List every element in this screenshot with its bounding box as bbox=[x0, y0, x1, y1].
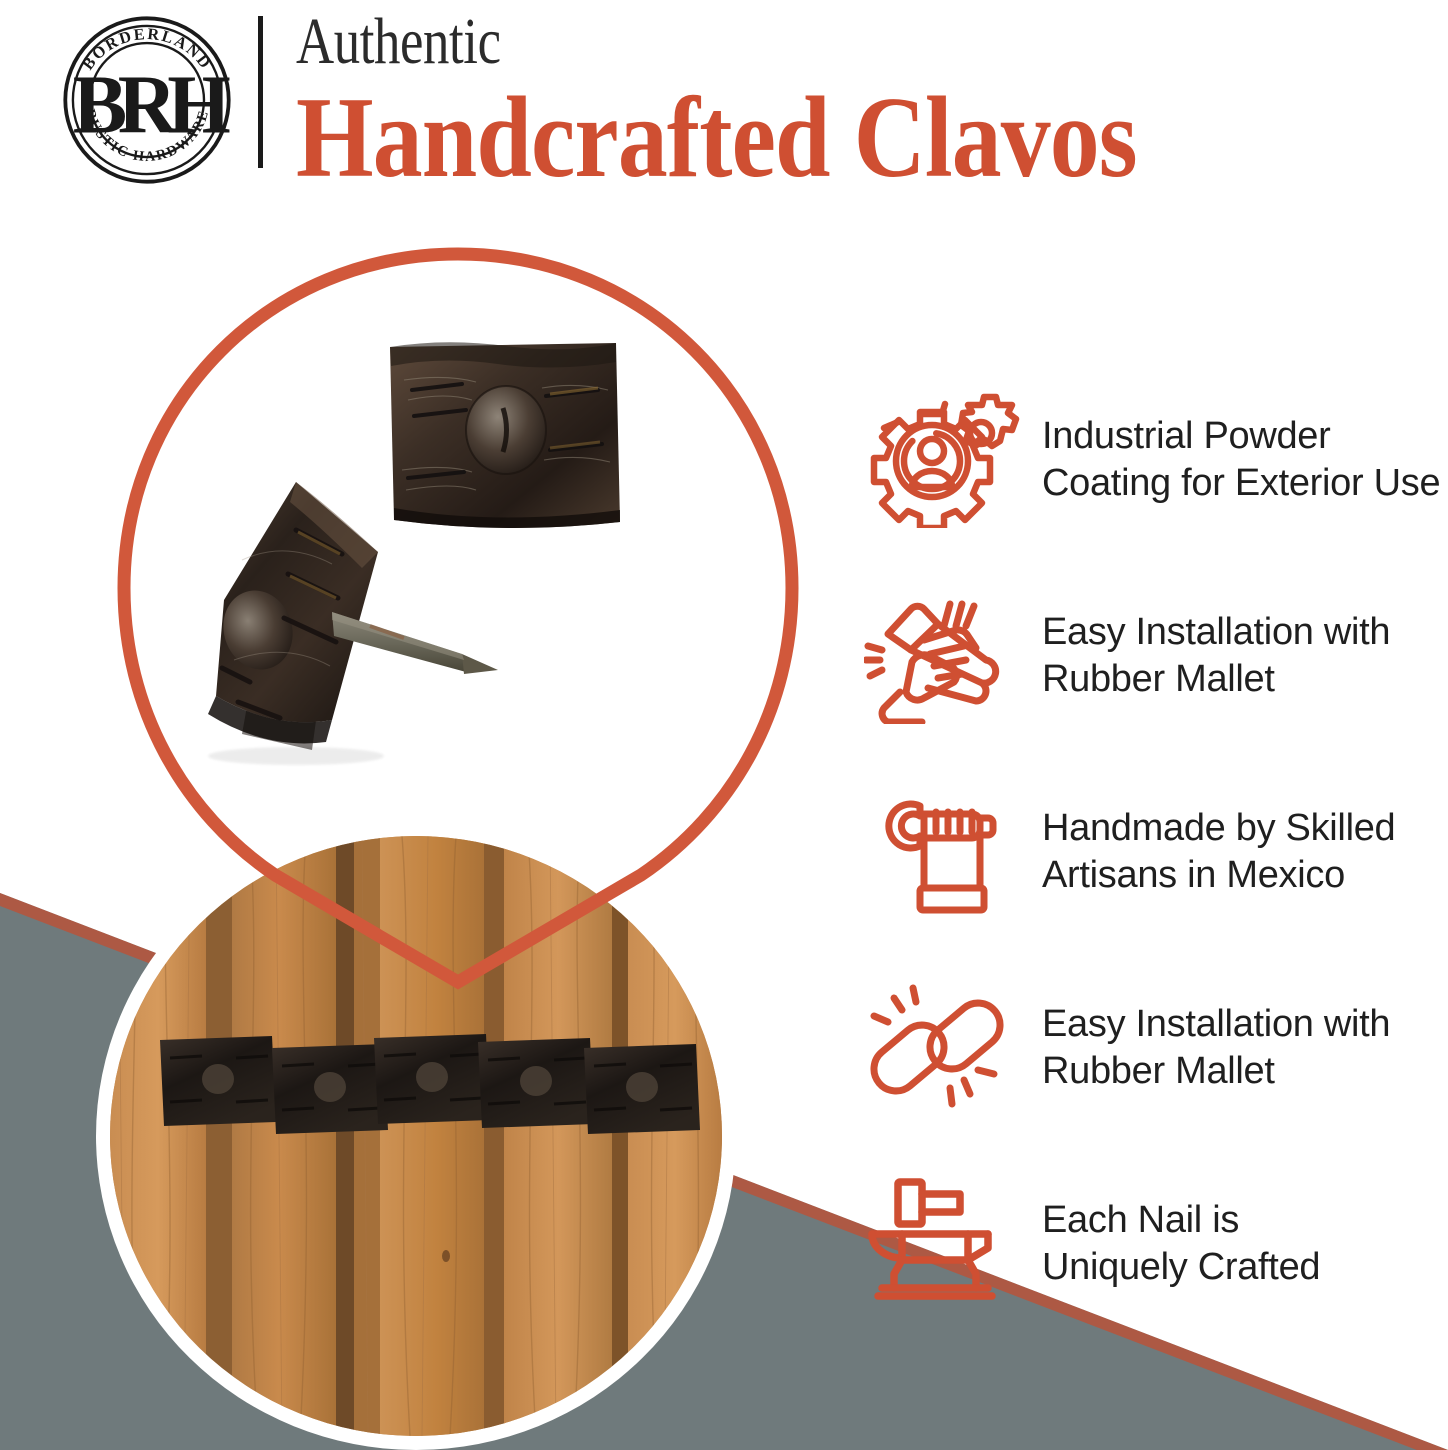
chain-links-icon bbox=[864, 980, 1024, 1116]
feature-item: Easy Installation with Rubber Mallet bbox=[846, 558, 1448, 754]
feature-item: Easy Installation with Rubber Mallet bbox=[846, 950, 1448, 1146]
page-title-handcrafted-clavos: Handcrafted Clavos bbox=[296, 80, 1276, 196]
page-title-authentic: Authentic bbox=[296, 0, 1208, 78]
feature-label: Each Nail is Uniquely Crafted bbox=[1042, 1197, 1320, 1291]
feature-label-line2: Artisans in Mexico bbox=[1042, 852, 1395, 899]
feature-item: Each Nail is Uniquely Crafted bbox=[846, 1146, 1448, 1342]
feature-icon-wrap bbox=[846, 973, 1042, 1123]
feature-label-line1: Easy Installation with bbox=[1042, 1003, 1390, 1045]
product-photo-clavos bbox=[146, 330, 766, 770]
feature-label: Easy Installation with Rubber Mallet bbox=[1042, 1001, 1390, 1095]
feature-label-line2: Rubber Mallet bbox=[1042, 656, 1390, 703]
feature-label-line1: Industrial Powder bbox=[1042, 415, 1331, 457]
product-infographic: BORDERLAND RUSTIC HARDWARE BRH Authentic… bbox=[0, 0, 1448, 1450]
feature-icon-wrap bbox=[846, 1169, 1042, 1319]
brand-logo-seal: BORDERLAND RUSTIC HARDWARE BRH bbox=[52, 14, 242, 186]
door-circle-image-clip bbox=[110, 836, 722, 1436]
title-block: Authentic Handcrafted Clavos bbox=[296, 0, 1436, 196]
wooden-door-with-clavos bbox=[110, 836, 722, 1436]
clavo-head-front bbox=[390, 342, 620, 528]
svg-text:BRH: BRH bbox=[73, 58, 230, 151]
feature-label-line1: Handmade by Skilled bbox=[1042, 807, 1395, 849]
anvil-hammer-icon bbox=[864, 1176, 1024, 1312]
feature-list: Industrial Powder Coating for Exterior U… bbox=[846, 362, 1448, 1342]
feature-label-line2: Uniquely Crafted bbox=[1042, 1244, 1320, 1291]
feature-icon-wrap bbox=[846, 777, 1042, 927]
fist-wrench-icon bbox=[864, 784, 1024, 920]
feature-icon-wrap bbox=[846, 581, 1042, 731]
door-photo-circle bbox=[96, 822, 736, 1450]
feature-label-line2: Rubber Mallet bbox=[1042, 1048, 1390, 1095]
feature-label-line2: Coating for Exterior Use bbox=[1042, 460, 1440, 507]
header-divider bbox=[258, 16, 263, 168]
power-tool-hand-icon bbox=[864, 588, 1024, 724]
feature-label: Handmade by Skilled Artisans in Mexico bbox=[1042, 805, 1395, 899]
gears-person-icon bbox=[864, 392, 1024, 528]
clavo-row bbox=[160, 1034, 700, 1134]
feature-label-line1: Each Nail is bbox=[1042, 1199, 1239, 1241]
feature-item: Industrial Powder Coating for Exterior U… bbox=[846, 362, 1448, 558]
feature-icon-wrap bbox=[846, 385, 1042, 535]
feature-label: Industrial Powder Coating for Exterior U… bbox=[1042, 413, 1440, 507]
feature-label: Easy Installation with Rubber Mallet bbox=[1042, 609, 1390, 703]
feature-label-line1: Easy Installation with bbox=[1042, 611, 1390, 653]
feature-item: Handmade by Skilled Artisans in Mexico bbox=[846, 754, 1448, 950]
header: BORDERLAND RUSTIC HARDWARE BRH Authentic… bbox=[0, 0, 1448, 195]
